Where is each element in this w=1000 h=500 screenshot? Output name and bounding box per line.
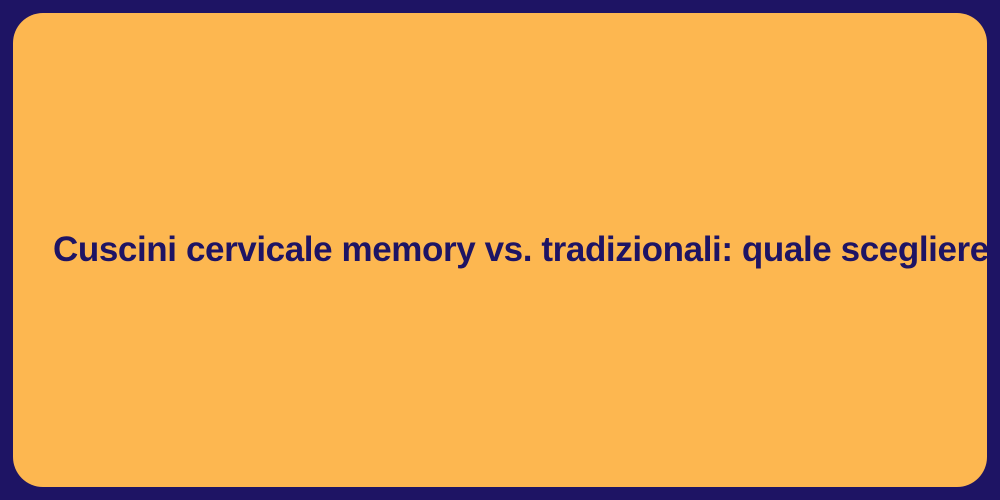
article-card-frame: Cuscini cervicale memory vs. tradizional… [0, 0, 1000, 500]
article-card-panel: Cuscini cervicale memory vs. tradizional… [13, 13, 987, 487]
article-card-title: Cuscini cervicale memory vs. tradizional… [13, 228, 987, 272]
